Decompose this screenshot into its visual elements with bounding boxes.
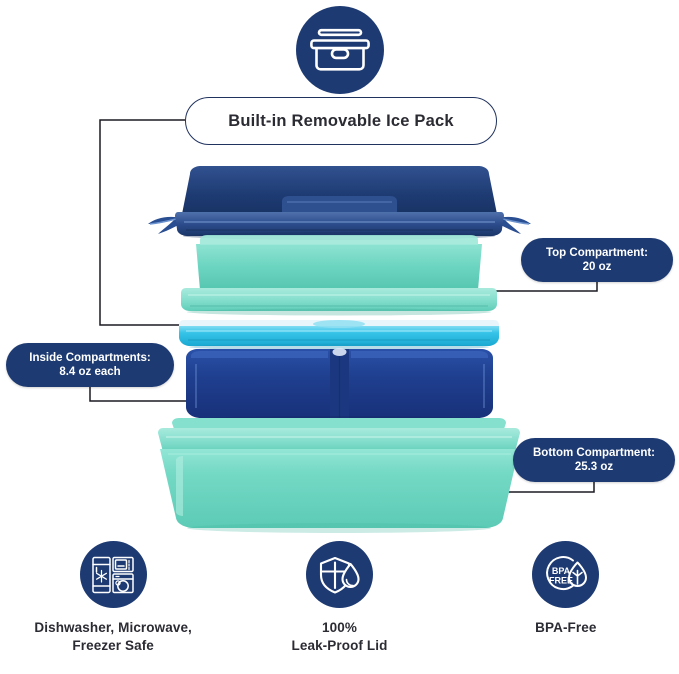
feature-appliance-safe: Dishwasher, Microwave, Freezer Safe xyxy=(8,541,218,655)
svg-text:FREE: FREE xyxy=(549,575,573,585)
feature-label-line-1: BPA-Free xyxy=(535,619,596,637)
feature-label-line-1: 100% xyxy=(292,619,388,637)
callout-line-2: 8.4 oz each xyxy=(59,365,120,379)
page-title: Built-in Removable Ice Pack xyxy=(185,97,497,145)
product-part-top-compartment xyxy=(181,235,497,316)
callout-inside-compartments: Inside Compartments: 8.4 oz each xyxy=(6,343,174,387)
feature-bpa-free: BPA FREE BPA-Free xyxy=(461,541,671,637)
feature-label-line-1: Dishwasher, Microwave, xyxy=(34,619,192,637)
callout-line-1: Top Compartment: xyxy=(546,246,648,260)
feature-label: 100% Leak-Proof Lid xyxy=(292,619,388,655)
product-part-inside-compartments xyxy=(186,348,493,422)
product-part-lid xyxy=(148,166,531,240)
feature-label: BPA-Free xyxy=(535,619,596,637)
callout-bottom-compartment: Bottom Compartment: 25.3 oz xyxy=(513,438,675,482)
page-title-text: Built-in Removable Ice Pack xyxy=(228,112,453,131)
lunch-box-icon xyxy=(296,6,384,94)
infographic-canvas: Built-in Removable Ice Pack xyxy=(0,0,679,674)
callout-line-2: 20 oz xyxy=(583,260,612,274)
callout-top-compartment: Top Compartment: 20 oz xyxy=(521,238,673,282)
feature-label: Dishwasher, Microwave, Freezer Safe xyxy=(34,619,192,655)
feature-row: Dishwasher, Microwave, Freezer Safe 100%… xyxy=(0,541,679,674)
feature-leak-proof: 100% Leak-Proof Lid xyxy=(234,541,444,655)
callout-line-1: Inside Compartments: xyxy=(29,351,150,365)
callout-line-2: 25.3 oz xyxy=(575,460,613,474)
leak-proof-shield-icon xyxy=(306,541,373,608)
feature-label-line-2: Freezer Safe xyxy=(34,637,192,655)
bpa-free-icon: BPA FREE xyxy=(532,541,599,608)
appliance-safe-icon xyxy=(80,541,147,608)
callout-line-1: Bottom Compartment: xyxy=(533,446,655,460)
product-part-ice-pack xyxy=(179,320,499,351)
svg-text:BPA: BPA xyxy=(552,566,571,576)
product-part-bottom-compartment xyxy=(158,418,520,533)
feature-label-line-2: Leak-Proof Lid xyxy=(292,637,388,655)
